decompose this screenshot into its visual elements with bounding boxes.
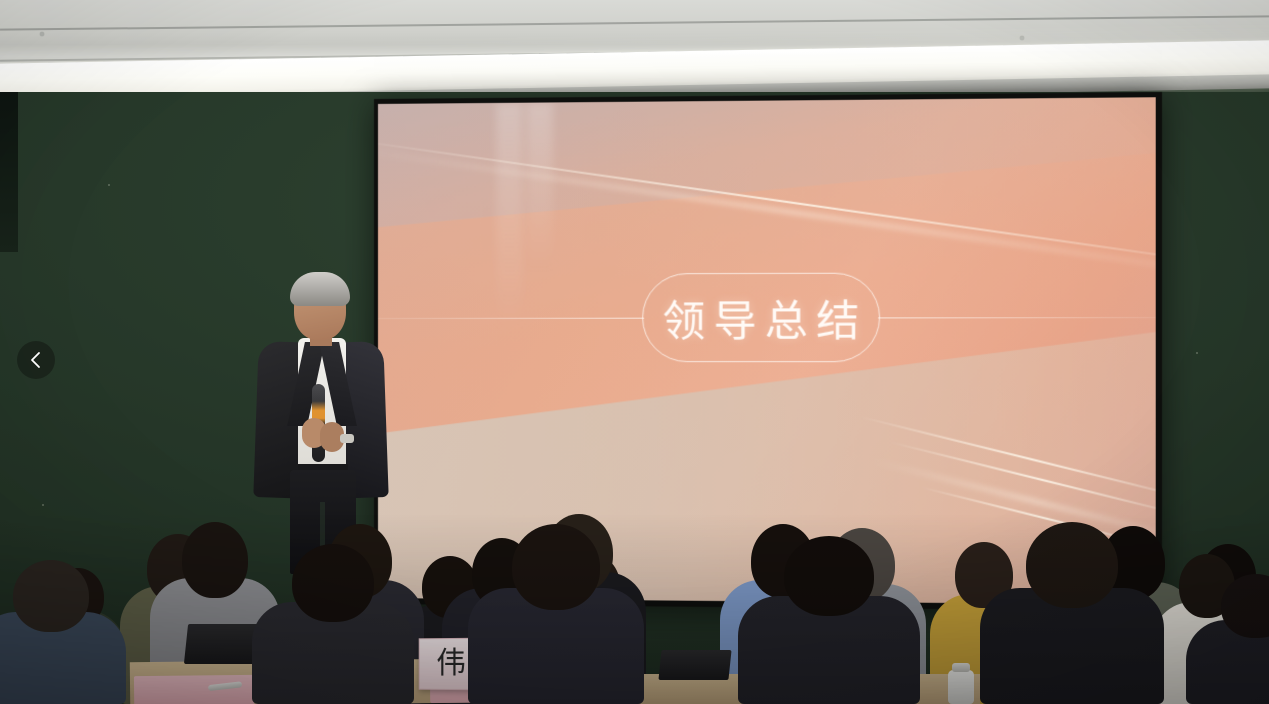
attendee-head xyxy=(512,524,600,610)
ceiling-screw xyxy=(40,32,44,36)
audience-member xyxy=(738,550,920,704)
wall-speck xyxy=(42,504,44,506)
wall-speck xyxy=(1196,352,1198,354)
attendee-head xyxy=(292,544,374,622)
placard-text: 伟 xyxy=(436,649,466,679)
photo-viewer-stage: 领导总结 xyxy=(0,0,1269,704)
document-paper xyxy=(134,675,254,704)
audience-member xyxy=(252,558,414,704)
slide-title-text: 领导总结 xyxy=(654,286,867,348)
laptop xyxy=(658,650,731,680)
wall-panel-left xyxy=(0,92,18,252)
audience-member xyxy=(0,572,126,704)
slide-rule-right xyxy=(878,317,1156,319)
chevron-left-icon xyxy=(29,350,43,370)
water-bottle-cap xyxy=(952,663,970,672)
audience-member xyxy=(468,538,644,704)
slide-title-pill: 领导总结 xyxy=(642,273,880,363)
presenter-hair xyxy=(290,272,350,306)
ceiling-screw xyxy=(1020,36,1024,40)
attendee-head xyxy=(1026,522,1118,608)
attendee-head xyxy=(13,560,89,632)
attendee-head xyxy=(182,522,248,598)
screen-sheen xyxy=(527,102,553,271)
previous-image-button[interactable] xyxy=(17,341,55,379)
ceiling-seam xyxy=(0,15,1269,30)
audience-member xyxy=(980,536,1164,704)
attendee-head xyxy=(784,536,874,616)
presenter-watch xyxy=(340,434,354,443)
screen-sheen xyxy=(496,103,522,331)
slide-rule-left xyxy=(378,318,644,320)
water-bottle xyxy=(948,670,974,704)
wall-speck xyxy=(108,184,110,186)
audience-member xyxy=(1186,584,1269,704)
